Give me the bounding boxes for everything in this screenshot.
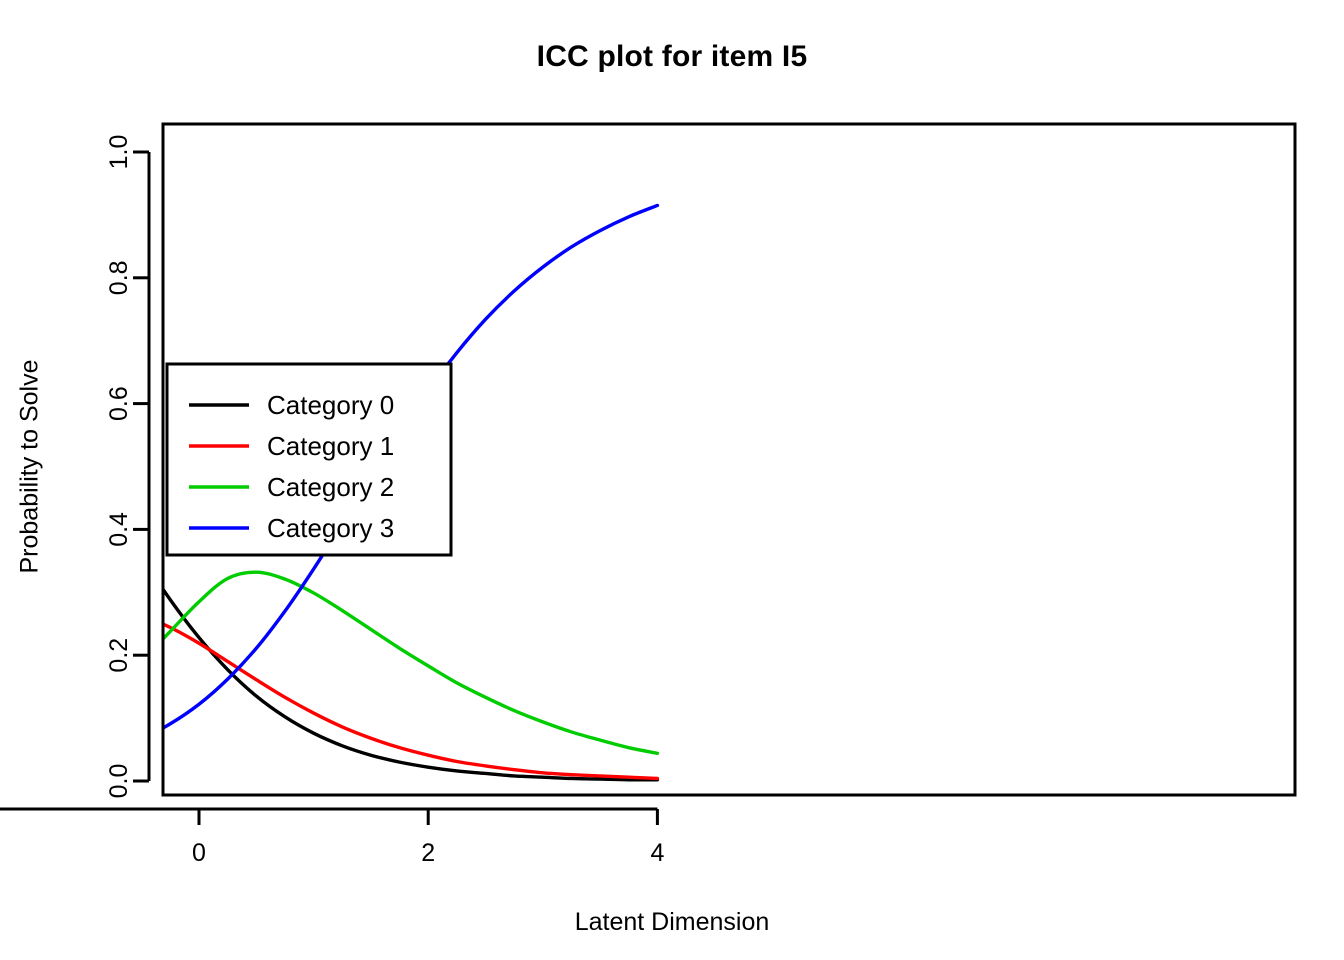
- y-axis-tick-label: 0.0: [105, 764, 133, 799]
- x-axis-tick-label: 2: [421, 839, 435, 867]
- legend-label-3: Category 3: [267, 513, 394, 543]
- plot-area-svg: -4-20240.00.20.40.60.81.0 Category 0Cate…: [0, 0, 1344, 960]
- y-axis-tick-label: 1.0: [105, 135, 133, 170]
- curve-series-2: [0, 572, 657, 779]
- legend-label-1: Category 1: [267, 431, 394, 461]
- y-axis-tick-label: 0.4: [105, 512, 133, 547]
- chart-container: ICC plot for item I5 Probability to Solv…: [0, 0, 1344, 960]
- x-axis-tick-label: 0: [192, 839, 206, 867]
- curve-series-1: [0, 610, 657, 779]
- x-axis-tick-label: 4: [650, 839, 664, 867]
- y-axis-tick-label: 0.2: [105, 638, 133, 673]
- y-axis-tick-label: 0.6: [105, 386, 133, 421]
- chart-legend: Category 0Category 1Category 2Category 3: [167, 364, 451, 555]
- y-axis-tick-label: 0.8: [105, 260, 133, 295]
- legend-label-0: Category 0: [267, 390, 394, 420]
- legend-label-2: Category 2: [267, 472, 394, 502]
